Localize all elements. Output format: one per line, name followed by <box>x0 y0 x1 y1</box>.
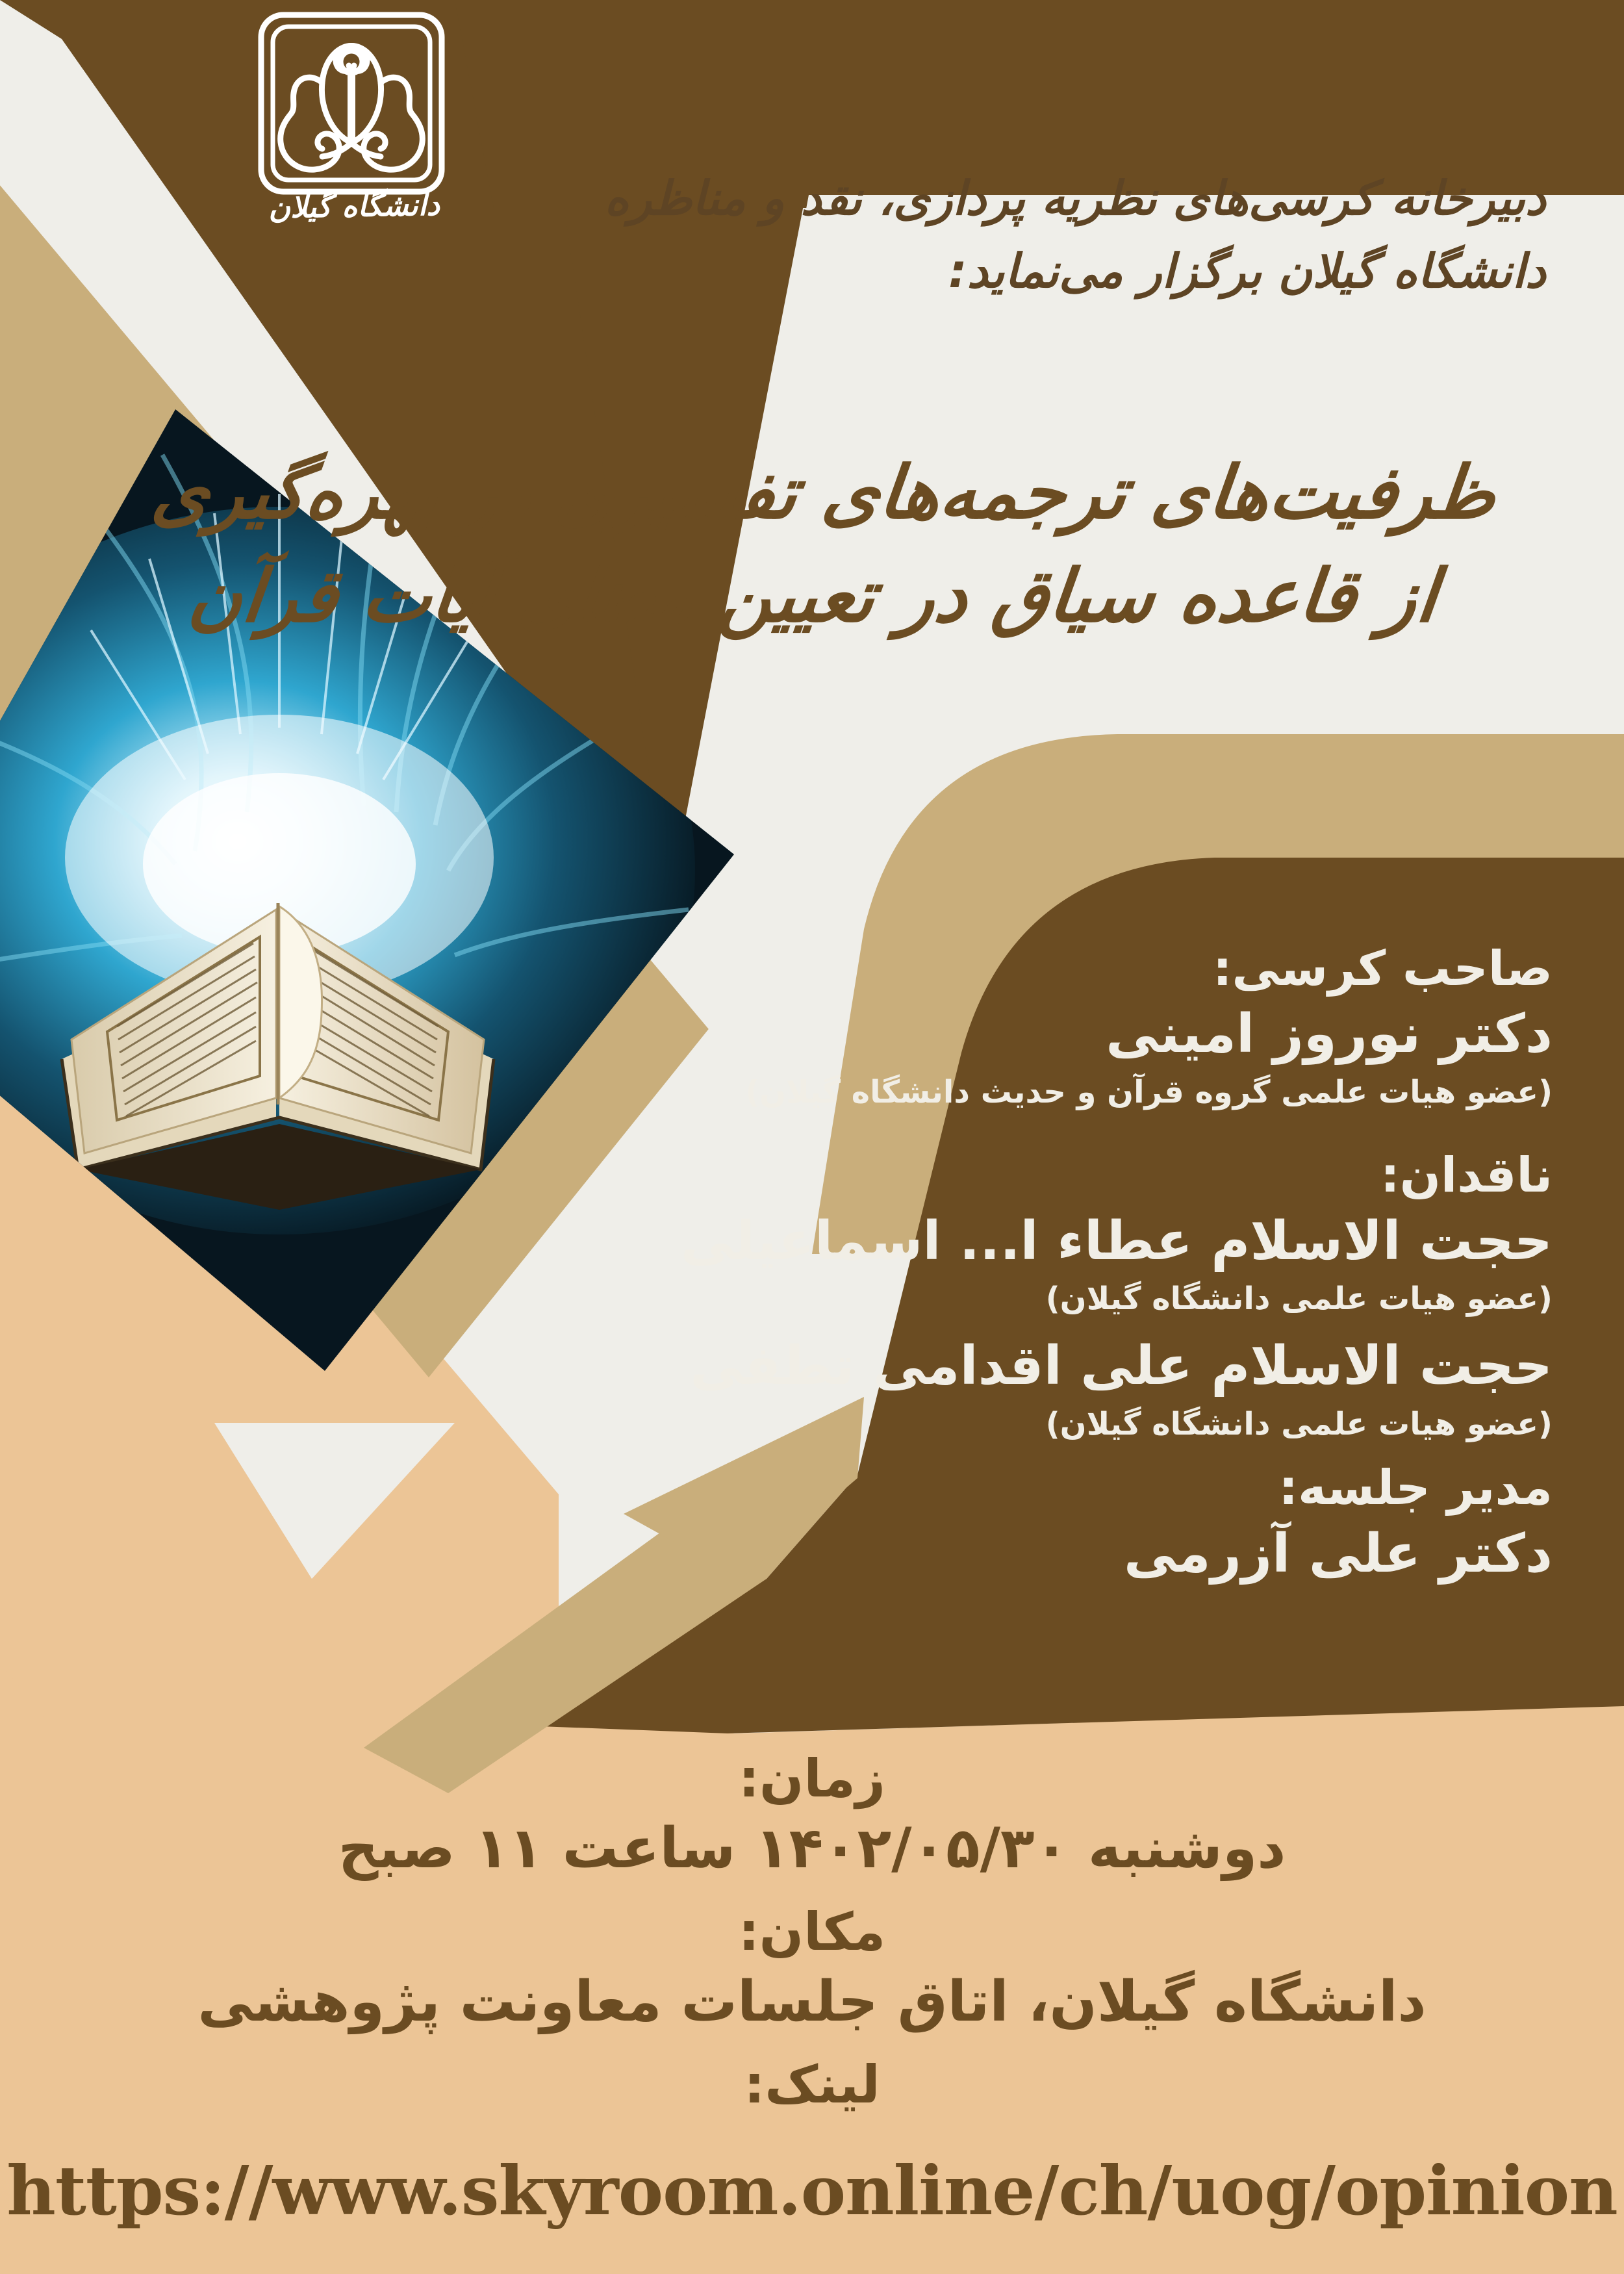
chair-affiliation: (عضو هیات علمی گروه قرآن و حدیث دانشگاه … <box>578 1072 1553 1112</box>
place-label: مکان: <box>0 1901 1624 1963</box>
chair-label: صاحب کرسی: <box>578 941 1553 997</box>
critic-1-affiliation: (عضو هیات علمی دانشگاه گیلان) <box>578 1279 1553 1319</box>
event-poster: دانشگاه گیلان دبیرخانه کرسی‌های نظریه پر… <box>0 0 1624 2274</box>
page-title: ظرفیت‌های ترجمه‌های تفسیری در بهره‌گیری … <box>93 442 1543 648</box>
moderator-name: دکتر علی آزرمی <box>578 1521 1553 1588</box>
participants-panel: صاحب کرسی: دکتر نوروز امینی (عضو هیات عل… <box>578 936 1553 1587</box>
time-label: زمان: <box>0 1748 1624 1810</box>
secretariat-line-1: دبیرخانه کرسی‌های نظریه پردازی، نقد و من… <box>507 162 1546 235</box>
title-line-2: از قاعده سیاق در تعیین معنای آیات قرآن <box>93 545 1533 648</box>
moderator-label: مدیر جلسه: <box>578 1460 1553 1516</box>
time-value: دوشنبه ۱۴۰۲/۰۵/۳۰ ساعت ۱۱ صبح <box>0 1814 1624 1884</box>
critic-2-name: حجت الاسلام علی اقدامی تطفی <box>578 1333 1553 1400</box>
critics-label: ناقدان: <box>578 1147 1553 1204</box>
chair-name: دکتر نوروز امینی <box>578 1001 1553 1068</box>
secretariat-header: دبیرخانه کرسی‌های نظریه پردازی، نقد و من… <box>507 162 1546 307</box>
meeting-link[interactable]: https://www.skyroom.online/ch/uog/opinio… <box>0 2151 1624 2230</box>
title-line-1: ظرفیت‌های ترجمه‌های تفسیری در بهره‌گیری <box>104 442 1544 545</box>
logo-caption: دانشگاه گیلان <box>250 186 459 225</box>
place-value: دانشگاه گیلان، اتاق جلسات معاونت پژوهشی <box>0 1967 1624 2038</box>
event-details: زمان: دوشنبه ۱۴۰۲/۰۵/۳۰ ساعت ۱۱ صبح مکان… <box>0 1748 1624 2116</box>
secretariat-line-2: دانشگاه گیلان برگزار می‌نماید: <box>507 235 1546 308</box>
critic-1-name: حجت الاسلام عطاء ا... اسماعیلی <box>578 1208 1553 1275</box>
critic-2-affiliation: (عضو هیات علمی دانشگاه گیلان) <box>578 1404 1553 1444</box>
link-label: لینک: <box>0 2054 1624 2116</box>
